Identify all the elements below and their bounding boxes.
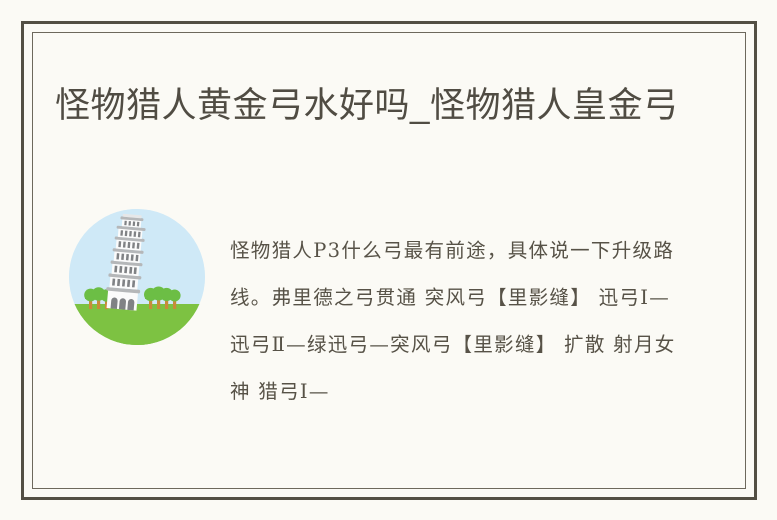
article-body: 怪物猎人P3什么弓最有前途，具体说一下升级路线。弗里德之弓贯通 突风弓【里影缝】… — [230, 227, 680, 415]
article-thumbnail — [69, 209, 205, 345]
leaning-tower-of-pisa-icon — [69, 209, 205, 345]
page-root: 怪物猎人黄金弓水好吗_怪物猎人皇金弓 — [0, 0, 777, 520]
page-title: 怪物猎人黄金弓水好吗_怪物猎人皇金弓 — [55, 80, 680, 132]
article-content: 怪物猎人P3什么弓最有前途，具体说一下升级路线。弗里德之弓贯通 突风弓【里影缝】… — [55, 195, 680, 445]
